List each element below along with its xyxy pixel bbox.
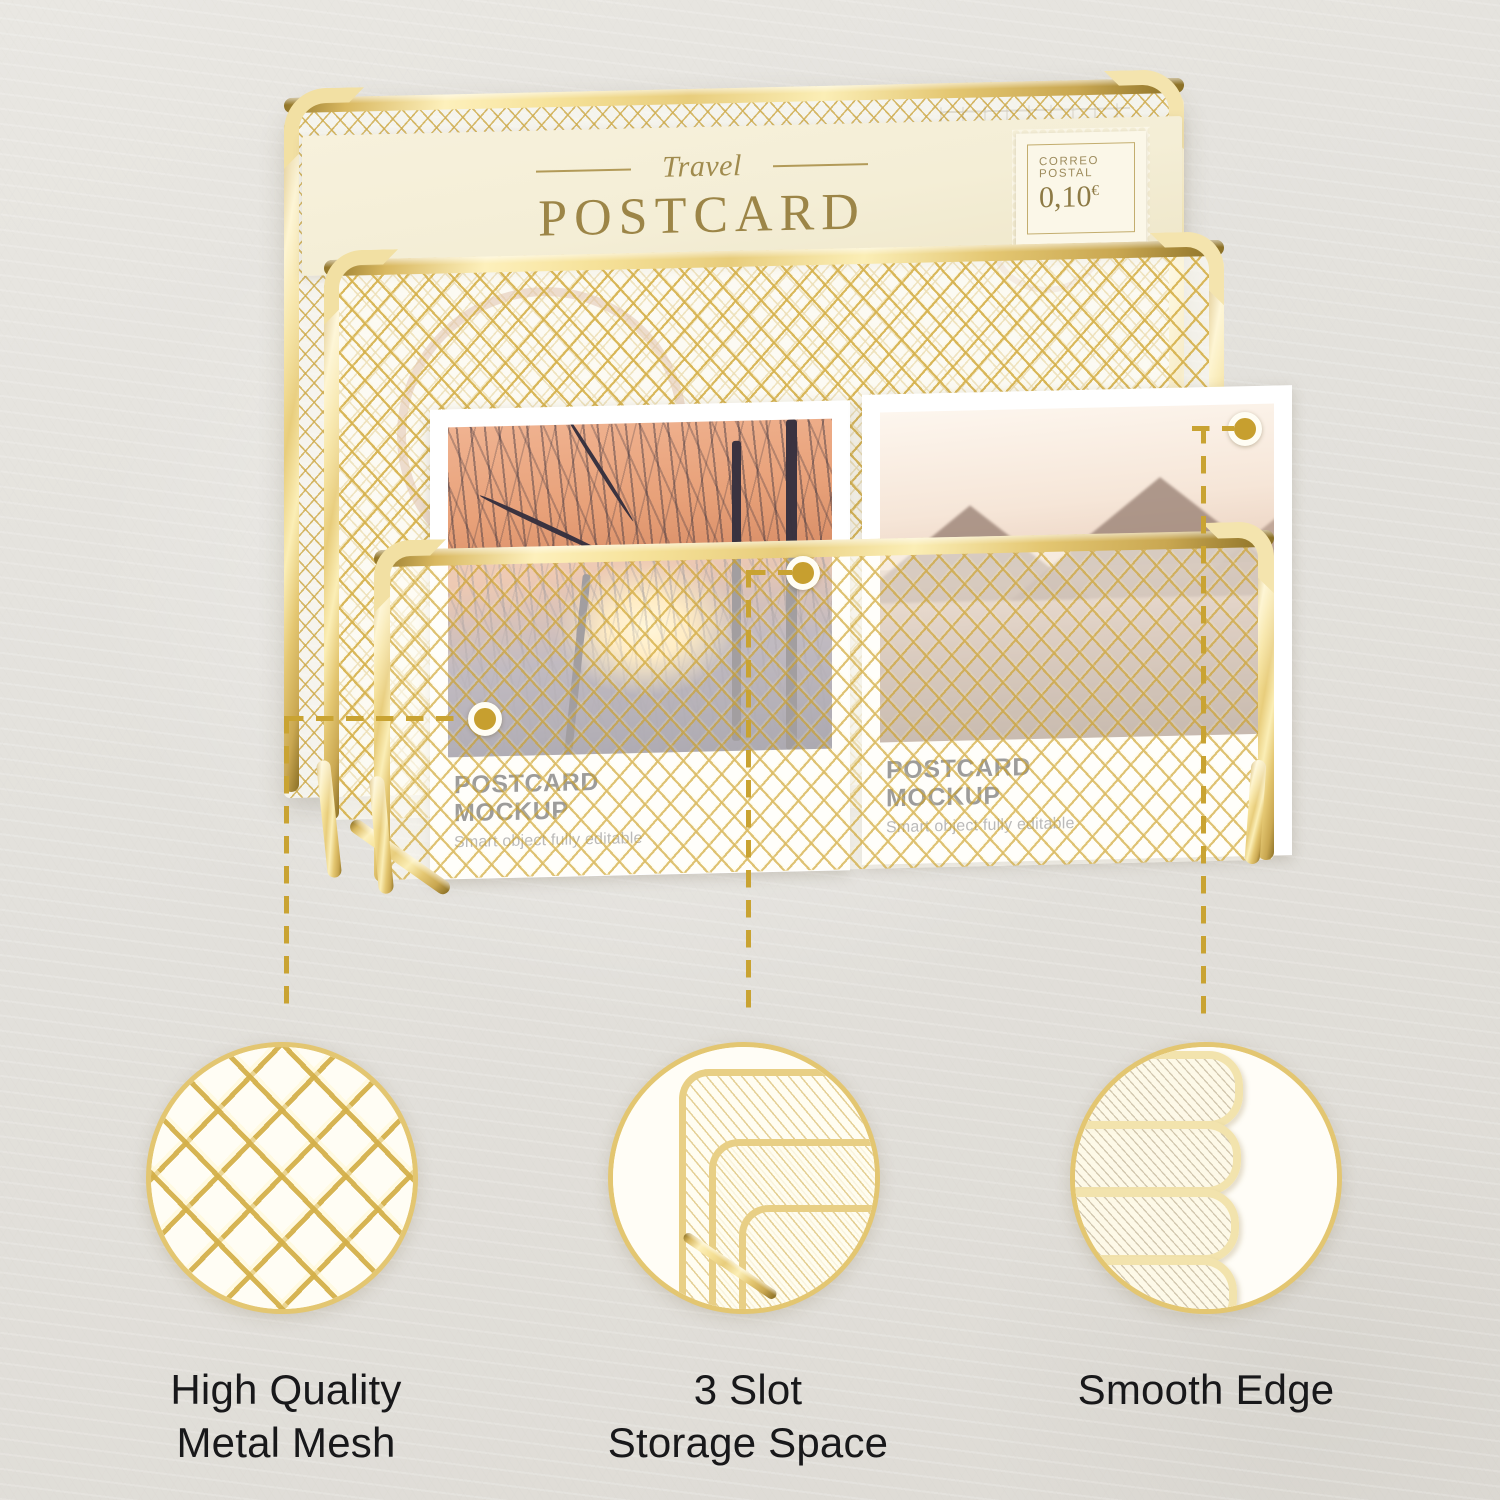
detail-circle-smooth-edge <box>1070 1042 1342 1314</box>
product-image: Travel POSTCARD CORREO POSTAL 0,10€ <box>262 60 1302 920</box>
feature-caption-smooth-edge: Smooth Edge <box>996 1364 1416 1417</box>
organizer-front-panel <box>374 530 1274 880</box>
mesh-fill-front <box>374 530 1274 880</box>
front-frame-corner-left <box>374 539 446 613</box>
stamp-price: 0,10€ <box>1039 181 1134 213</box>
postcard-title: POSTCARD <box>538 182 866 248</box>
callout-leader-slots-vertical <box>746 570 751 1018</box>
detail-visual-edge <box>1075 1047 1337 1309</box>
detail-visual-mesh <box>151 1047 413 1309</box>
postage-stamp: CORREO POSTAL 0,10€ <box>1016 131 1146 246</box>
callout-leader-mesh-horizontal <box>286 716 466 721</box>
detail-visual-slots <box>613 1047 875 1309</box>
detail-circle-3-slot <box>608 1042 880 1314</box>
feature-caption-metal-mesh: High Quality Metal Mesh <box>76 1364 496 1470</box>
callout-marker-mesh[interactable] <box>468 702 502 736</box>
callout-leader-edge-vertical <box>1201 426 1206 1018</box>
callout-leader-slots-horizontal <box>748 570 792 575</box>
infographic-stage: Travel POSTCARD CORREO POSTAL 0,10€ <box>0 0 1500 1500</box>
mid-frame-corner-right <box>1150 231 1224 307</box>
postcard-eyebrow: Travel <box>632 148 772 185</box>
callout-leader-edge-horizontal <box>1192 426 1234 431</box>
back-frame-left <box>284 120 299 792</box>
stamp-label: CORREO POSTAL <box>1039 154 1134 180</box>
detail-circle-metal-mesh <box>146 1042 418 1314</box>
front-frame-corner-right <box>1202 521 1274 595</box>
mid-frame-left <box>324 280 339 820</box>
callout-leader-mesh-vertical <box>284 716 289 1016</box>
mid-frame-corner-left <box>324 249 398 325</box>
feature-caption-3-slot: 3 Slot Storage Space <box>538 1364 958 1470</box>
